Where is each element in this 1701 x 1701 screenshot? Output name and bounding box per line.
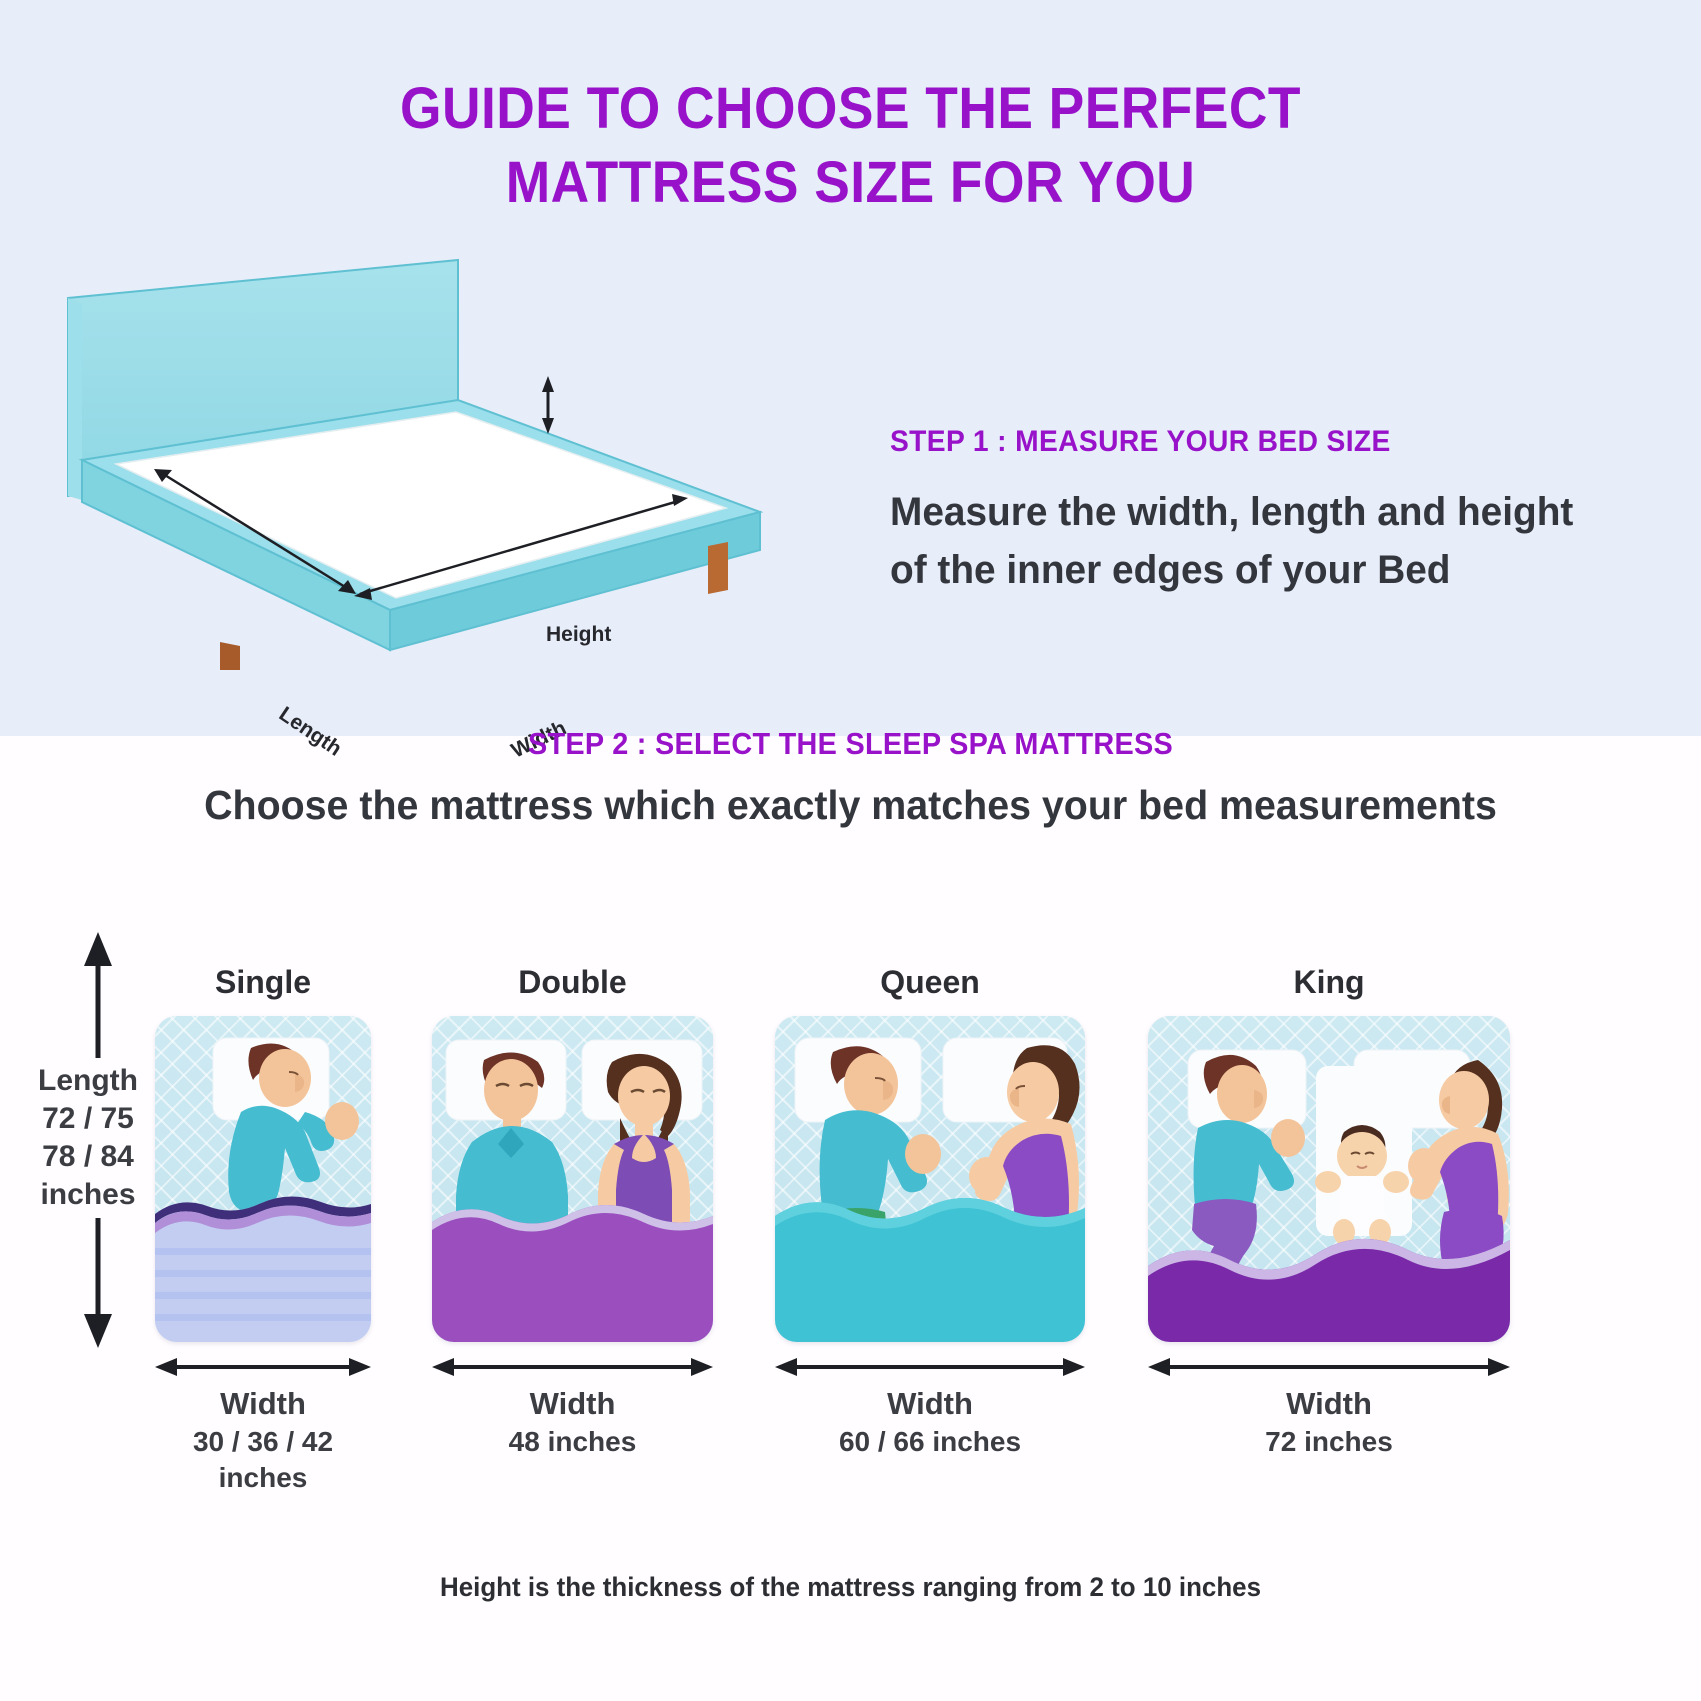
double-sleepers-scene [432,1016,713,1342]
step-1-body: Measure the width, length and height of … [890,483,1627,599]
width-label-single: Width [155,1384,371,1424]
title-line-2: MATTRESS SIZE FOR YOU [68,146,1633,220]
width-arrow-double [432,1354,713,1380]
bed-height-label: Height [546,623,611,647]
mattress-card-king[interactable]: King [1148,1016,1510,1342]
step-1-body-line-1: Measure the width, length and height [890,483,1627,541]
width-text-double: Width 48 inches [432,1384,713,1460]
mattress-illustration-king [1148,1016,1510,1342]
footer-note: Height is the thickness of the mattress … [34,1572,1667,1603]
width-arrow-svg [775,1354,1085,1380]
width-label-queen: Width [775,1384,1085,1424]
width-arrow-svg [1148,1354,1510,1380]
width-arrow-svg [155,1354,371,1380]
width-value-double: 48 inches [432,1424,713,1460]
mattress-name-queen: Queen [775,964,1085,1001]
mattress-illustration-single [155,1016,371,1342]
mattress-card-single[interactable]: Single [155,1016,371,1342]
width-value-queen: 60 / 66 inches [775,1424,1085,1460]
infographic-page: GUIDE TO CHOOSE THE PERFECT MATTRESS SIZ… [0,0,1701,1701]
mattress-card-double[interactable]: Double [432,1016,713,1342]
length-label: Length [18,1062,158,1100]
mattress-card-queen[interactable]: Queen [775,1016,1085,1342]
width-value-king: 72 inches [1148,1424,1510,1460]
width-unit-single: inches [155,1460,371,1496]
width-label-double: Width [432,1384,713,1424]
width-value-single: 30 / 36 / 42 [155,1424,371,1460]
width-measure-double: Width 48 inches [432,1354,713,1460]
width-measure-queen: Width 60 / 66 inches [775,1354,1085,1460]
width-arrow-svg [432,1354,713,1380]
mattress-illustration-queen [775,1016,1085,1342]
bed-diagram-illustration: Height Length Width [60,250,780,670]
width-arrow-queen [775,1354,1085,1380]
step-1-body-line-2: of the inner edges of your Bed [890,541,1627,599]
length-value-line-2: 78 / 84 [18,1138,158,1176]
mattress-name-double: Double [432,964,713,1001]
single-sleeper-scene [155,1016,371,1342]
width-label-king: Width [1148,1384,1510,1424]
width-text-queen: Width 60 / 66 inches [775,1384,1085,1460]
bed-svg [60,250,780,670]
queen-sleepers-scene [775,1016,1085,1342]
mattress-name-single: Single [155,964,371,1001]
width-measure-single: Width 30 / 36 / 42 inches [155,1354,371,1496]
step-2-kicker: STEP 2 : SELECT THE SLEEP SPA MATTRESS [60,726,1642,762]
width-measure-king: Width 72 inches [1148,1354,1510,1460]
mattress-name-king: King [1148,964,1510,1001]
length-unit: inches [18,1176,158,1214]
step-1-text-block: STEP 1 : MEASURE YOUR BED SIZE Measure t… [890,425,1650,599]
length-measure-text: Length 72 / 75 78 / 84 inches [18,1058,158,1218]
page-title: GUIDE TO CHOOSE THE PERFECT MATTRESS SIZ… [68,72,1633,220]
length-value-line-1: 72 / 75 [18,1100,158,1138]
width-text-single: Width 30 / 36 / 42 inches [155,1384,371,1496]
width-text-king: Width 72 inches [1148,1384,1510,1460]
width-arrow-single [155,1354,371,1380]
king-family-scene [1148,1016,1510,1342]
step-2-subtitle: Choose the mattress which exactly matche… [34,782,1667,829]
title-line-1: GUIDE TO CHOOSE THE PERFECT [68,72,1633,146]
step-1-kicker: STEP 1 : MEASURE YOUR BED SIZE [890,425,1604,459]
width-arrow-king [1148,1354,1510,1380]
mattress-illustration-double [432,1016,713,1342]
